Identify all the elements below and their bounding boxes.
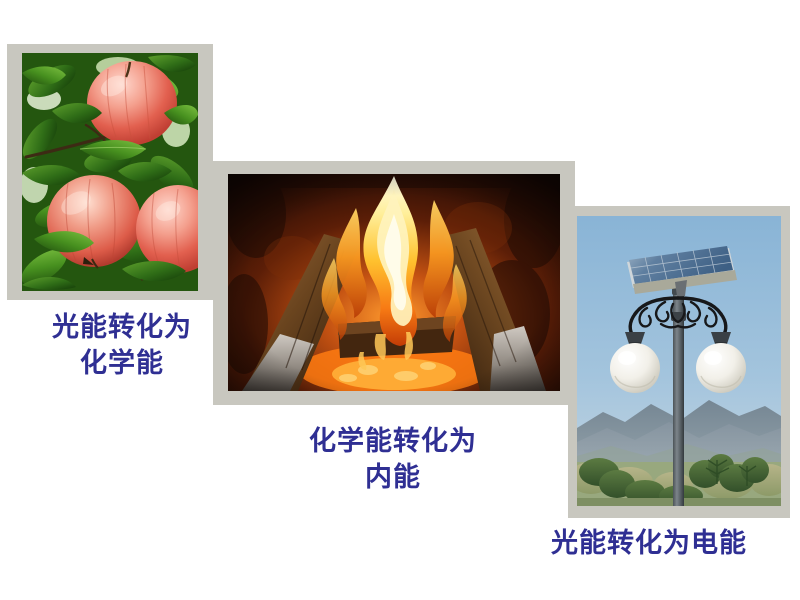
apples-on-tree-photo xyxy=(22,53,198,291)
caption-light-to-chemical-energy: 光能转化为 化学能 xyxy=(24,310,220,381)
wood-fire-photo xyxy=(228,174,560,391)
photo-frame-fire[interactable] xyxy=(213,161,575,405)
caption-light-to-electrical-energy: 光能转化为电能 xyxy=(518,526,780,562)
slide-canvas: 光能转化为 化学能 化学能转化为 内能 光能转化为电能 xyxy=(0,0,800,600)
photo-frame-solar[interactable] xyxy=(568,206,790,518)
solar-street-lamp-photo xyxy=(577,216,781,506)
photo-frame-apples[interactable] xyxy=(7,44,213,300)
caption-chemical-to-internal-energy: 化学能转化为 内能 xyxy=(288,424,498,495)
